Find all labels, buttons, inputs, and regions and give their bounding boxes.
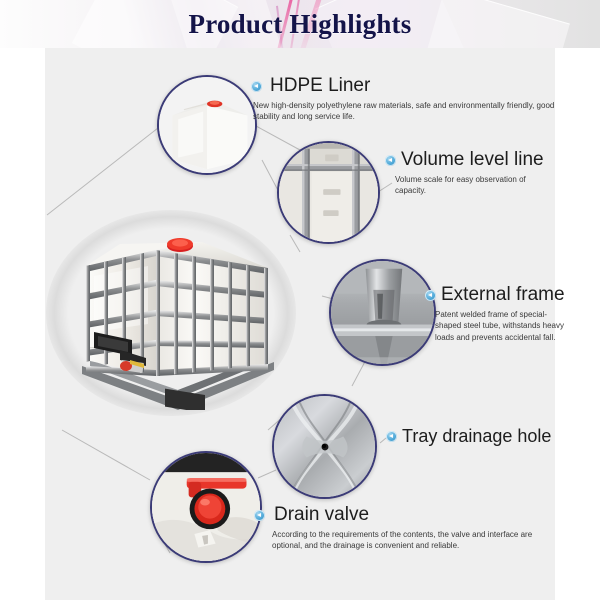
- hero-product-image: [34, 196, 314, 426]
- play-circle-icon: [386, 431, 397, 442]
- callout-photo-hdpe-liner: [157, 75, 257, 175]
- tank-volume-scale-markings-icon: [279, 143, 378, 242]
- feature-heading-label: Tray drainage hole: [402, 427, 551, 447]
- play-circle-icon: [251, 81, 262, 92]
- feature-heading-volume-level-line: Volume level line: [385, 150, 535, 171]
- feature-block-external-frame: External frame Patent welded frame of sp…: [425, 285, 565, 343]
- feature-body-volume-level-line: Volume scale for easy observation of cap…: [395, 174, 535, 197]
- callout-photo-external-frame: [329, 259, 436, 366]
- feature-heading-label: External frame: [441, 285, 565, 306]
- feature-body-external-frame: Patent welded frame of special-shaped st…: [435, 309, 565, 343]
- red-lever-drain-valve-icon: [152, 453, 260, 561]
- feature-block-tray-drainage-hole: Tray drainage hole: [386, 427, 566, 450]
- callout-photo-tray-drainage-hole: [272, 394, 377, 499]
- feature-block-drain-valve: Drain valve According to the requirement…: [254, 505, 554, 552]
- header-banner: Product Highlights: [0, 0, 600, 48]
- play-circle-icon: [425, 290, 436, 301]
- welded-steel-tube-joint-icon: [331, 261, 434, 364]
- product-highlights-infographic: Product Highlights: [0, 0, 600, 600]
- feature-heading-label: HDPE Liner: [270, 76, 370, 97]
- page-title: Product Highlights: [0, 9, 600, 40]
- steel-tray-with-drain-hole-icon: [274, 396, 375, 497]
- feature-heading-label: Volume level line: [401, 150, 544, 171]
- feature-block-hdpe-liner: HDPE Liner New high-density polyethylene…: [251, 76, 561, 123]
- feature-heading-hdpe-liner: HDPE Liner: [251, 76, 561, 97]
- feature-body-hdpe-liner: New high-density polyethylene raw materi…: [253, 100, 561, 123]
- feature-body-drain-valve: According to the requirements of the con…: [272, 529, 554, 552]
- feature-block-volume-level-line: Volume level line Volume scale for easy …: [385, 150, 535, 197]
- feature-heading-drain-valve: Drain valve: [254, 505, 554, 526]
- feature-heading-label: Drain valve: [274, 505, 369, 526]
- feature-heading-external-frame: External frame: [425, 285, 565, 306]
- callout-photo-drain-valve: [150, 451, 262, 563]
- play-circle-icon: [385, 155, 396, 166]
- ibc-tote-illustration: [60, 214, 292, 410]
- feature-heading-tray-drainage-hole: Tray drainage hole: [386, 427, 566, 447]
- play-circle-icon: [254, 510, 265, 521]
- callout-photo-volume-level-line: [277, 141, 380, 244]
- white-hdpe-tank-with-red-cap-icon: [159, 77, 255, 173]
